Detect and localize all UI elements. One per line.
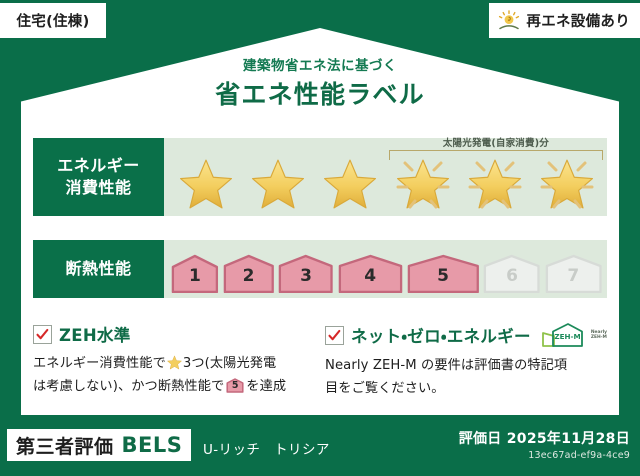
star-2 bbox=[242, 158, 314, 210]
energy-performance-row: エネルギー 消費性能 太陽光発電(自家消費)分 bbox=[33, 138, 607, 216]
evaluation-date: 評価日 2025年11月28日 bbox=[459, 428, 630, 448]
insulation-performance-key: 断熱性能 bbox=[33, 240, 164, 298]
check-icon bbox=[36, 328, 49, 341]
star-rating-group bbox=[170, 156, 603, 212]
zeh-m-logo-caption: Nearly ZEH-M bbox=[591, 330, 607, 340]
insulation-level-4: 4 bbox=[337, 253, 404, 293]
insulation-performance-row: 断熱性能 1 2 3 4 bbox=[33, 240, 607, 298]
badge-renewable-energy-label: 再エネ設備あり bbox=[526, 10, 630, 31]
inline-insulation-badge: 5 bbox=[226, 378, 244, 393]
insulation-level-3-value: 3 bbox=[300, 268, 312, 285]
solar-contribution-label: 太陽光発電(自家消費)分 bbox=[387, 135, 605, 149]
label-footer: 第三者評価 BELS U-リッチ トリシア 評価日 2025年11月28日 13… bbox=[0, 418, 640, 476]
building-name: U-リッチ トリシア bbox=[203, 438, 330, 458]
criteria-zeh-text-3: は考慮しない)、かつ断熱性能で bbox=[33, 379, 224, 394]
svg-text:ZEH-M: ZEH-M bbox=[554, 332, 580, 341]
sun-renewable-icon bbox=[497, 10, 521, 32]
insulation-level-5-value: 5 bbox=[437, 268, 449, 285]
criteria-zeh-standard-title: ZEH水準 bbox=[59, 322, 131, 346]
insulation-level-2: 2 bbox=[222, 253, 276, 293]
insulation-performance-rating: 1 2 3 4 5 bbox=[164, 240, 607, 298]
criteria-zeh-text-1: エネルギー消費性能で bbox=[33, 356, 166, 371]
criteria-zeh-standard: ZEH水準 エネルギー消費性能で3つ(太陽光発電は考慮しない)、かつ断熱性能で5… bbox=[33, 322, 315, 398]
energy-performance-key-line2: 消費性能 bbox=[65, 177, 131, 199]
energy-performance-key-line1: エネルギー bbox=[57, 155, 140, 177]
criteria-net-zero-energy: ネット・ゼロ・エネルギー ZEH-M Nearly ZEH-M Nearly Z… bbox=[325, 322, 607, 400]
insulation-level-6: 6 bbox=[482, 253, 541, 293]
badge-building-type: 住宅(住棟) bbox=[0, 3, 106, 38]
criteria-net-zero-energy-title: ネット・ゼロ・エネルギー bbox=[351, 323, 531, 347]
inline-insulation-value: 5 bbox=[226, 381, 244, 391]
criteria-zeh-standard-header: ZEH水準 bbox=[33, 322, 315, 346]
star-4-solar bbox=[387, 158, 459, 210]
insulation-level-6-value: 6 bbox=[506, 268, 518, 285]
check-icon bbox=[328, 329, 341, 342]
evaluation-id: 13ec67ad-ef9a-4ce9 bbox=[459, 450, 630, 461]
criteria-net-zero-energy-header: ネット・ゼロ・エネルギー ZEH-M Nearly ZEH-M bbox=[325, 322, 607, 348]
bels-badge: 第三者評価 BELS bbox=[7, 429, 191, 461]
energy-performance-rating: 太陽光発電(自家消費)分 bbox=[164, 138, 607, 216]
insulation-level-1: 1 bbox=[170, 253, 220, 293]
insulation-level-1-value: 1 bbox=[189, 268, 201, 285]
insulation-performance-key-label: 断熱性能 bbox=[65, 258, 131, 280]
checkbox-net-zero-energy[interactable] bbox=[325, 326, 344, 345]
criteria-net-zero-energy-body: Nearly ZEH-M の要件は評価書の特記項目をご覧ください。 bbox=[325, 355, 607, 400]
insulation-level-7: 7 bbox=[544, 253, 603, 293]
badge-building-type-label: 住宅(住棟) bbox=[16, 10, 89, 31]
insulation-level-3: 3 bbox=[277, 253, 334, 293]
zeh-m-logo-icon: ZEH-M bbox=[540, 322, 584, 348]
insulation-level-5: 5 bbox=[406, 253, 481, 293]
star-3 bbox=[314, 158, 386, 210]
insulation-level-group: 1 2 3 4 5 bbox=[170, 245, 603, 293]
bels-badge-ja: 第三者評価 bbox=[16, 432, 114, 459]
star-1 bbox=[170, 158, 242, 210]
checkbox-zeh-standard[interactable] bbox=[33, 325, 52, 344]
badge-renewable-energy: 再エネ設備あり bbox=[489, 3, 640, 38]
label-title-block: 建築物省エネ法に基づく 省エネ性能ラベル bbox=[0, 58, 640, 110]
label-subtitle: 建築物省エネ法に基づく bbox=[0, 58, 640, 74]
energy-performance-label: 住宅(住棟) 再エネ設備あり 建築物省エネ法に基づく 省エネ性能ラベル エネルギ… bbox=[0, 0, 640, 476]
evaluation-info: 評価日 2025年11月28日 13ec67ad-ef9a-4ce9 bbox=[459, 428, 630, 461]
star-5-solar bbox=[459, 158, 531, 210]
criteria-zeh-standard-body: エネルギー消費性能で3つ(太陽光発電は考慮しない)、かつ断熱性能で5を達成 bbox=[33, 353, 315, 398]
zeh-m-caption-line2: ZEH-M bbox=[591, 335, 607, 340]
insulation-level-7-value: 7 bbox=[567, 268, 579, 285]
criteria-zeh-text-2: 3つ(太陽光発電 bbox=[183, 356, 276, 371]
bels-badge-en: BELS bbox=[122, 433, 183, 457]
criteria-nze-text-1: Nearly ZEH-M の要件は評価書の特記項 bbox=[325, 358, 567, 373]
star-6-solar bbox=[531, 158, 603, 210]
criteria-zeh-text-4: を達成 bbox=[246, 379, 286, 394]
label-title: 省エネ性能ラベル bbox=[0, 80, 640, 110]
inline-star-icon bbox=[167, 355, 182, 370]
insulation-level-2-value: 2 bbox=[243, 268, 255, 285]
insulation-level-4-value: 4 bbox=[364, 268, 376, 285]
energy-performance-key: エネルギー 消費性能 bbox=[33, 138, 164, 216]
criteria-nze-text-2: 目をご覧ください。 bbox=[325, 381, 445, 396]
